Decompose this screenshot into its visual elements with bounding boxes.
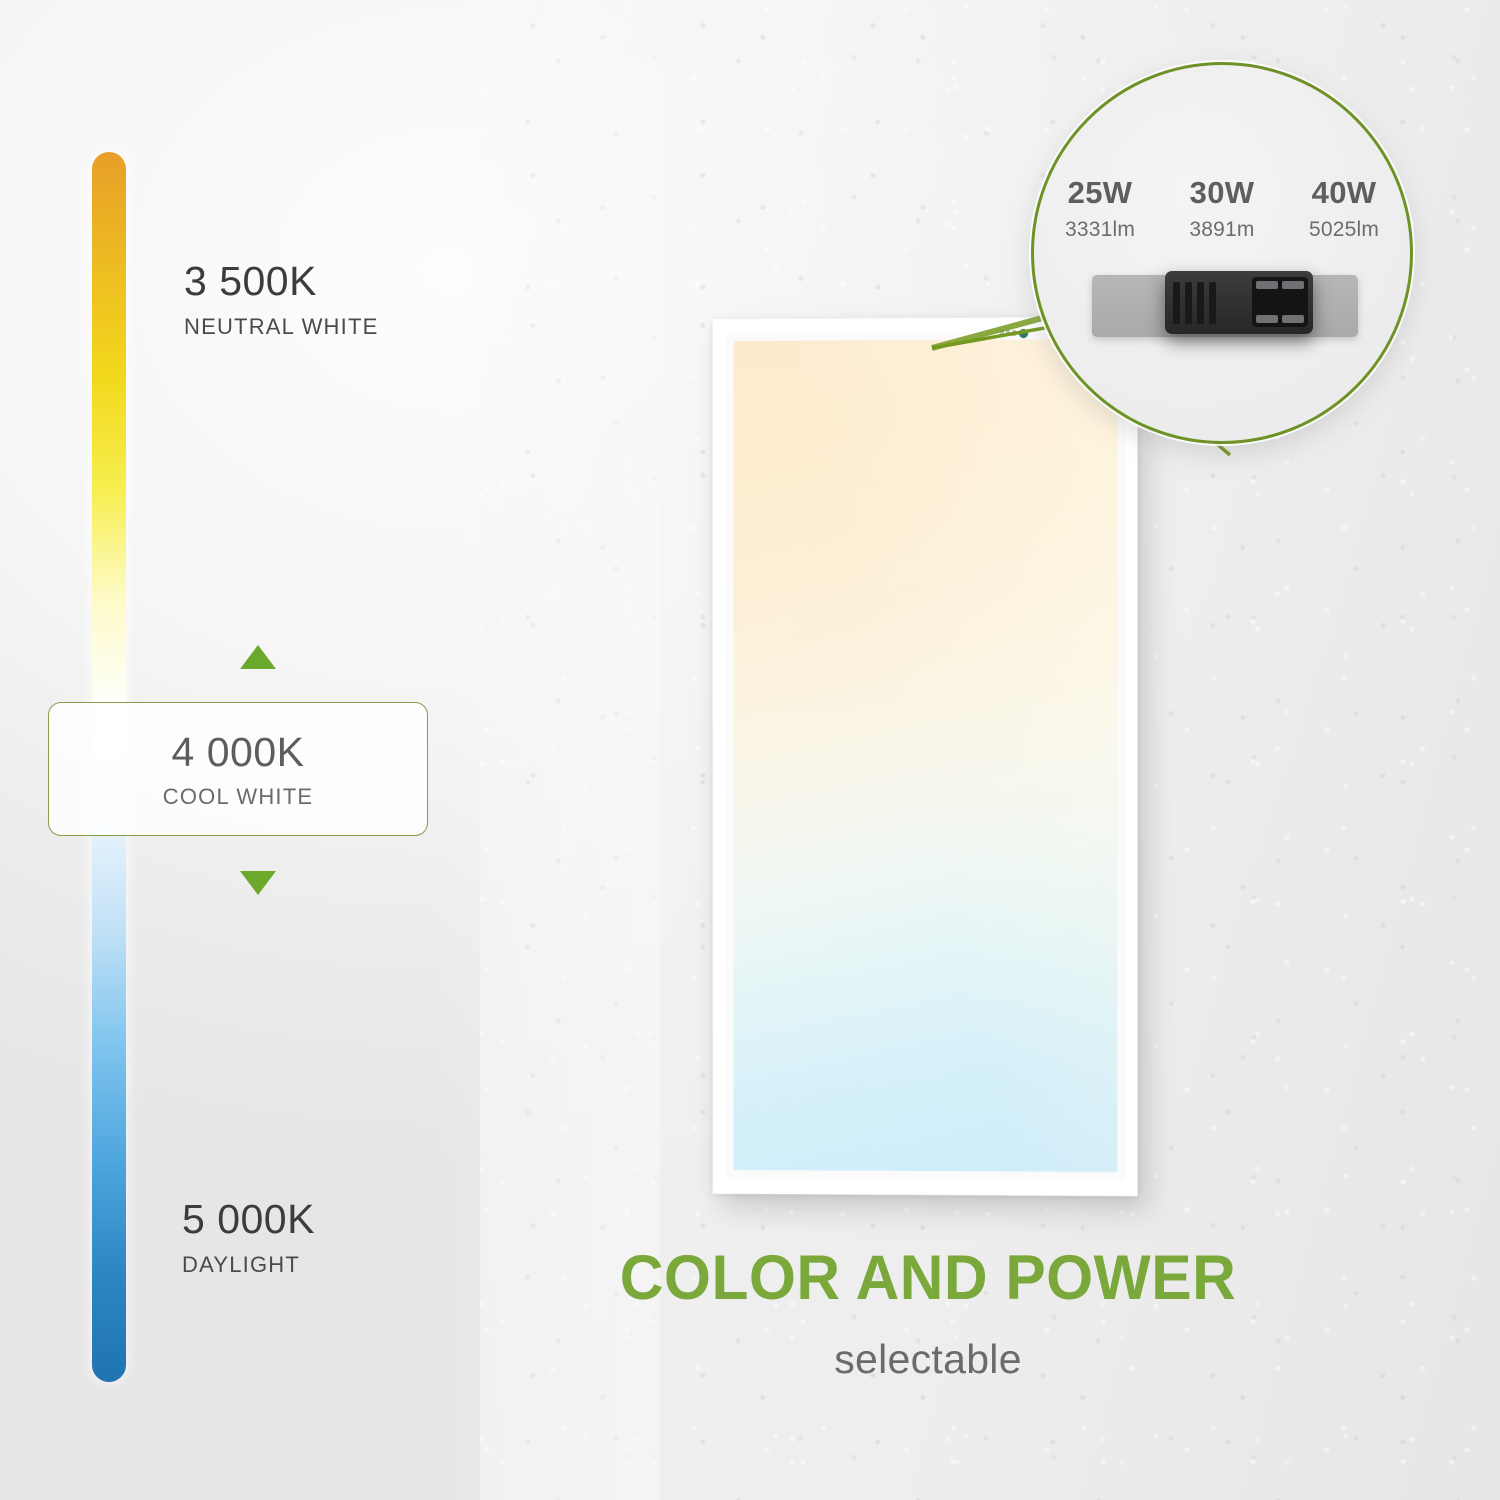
switch-connector-block: [1252, 277, 1308, 327]
cct-label-daylight: 5 000K DAYLIGHT: [182, 1196, 315, 1278]
lumen-value: 5025lm: [1298, 218, 1390, 242]
chevron-down-icon[interactable]: [240, 871, 276, 895]
cct-name-label-selected: COOL WHITE: [163, 784, 314, 810]
switch-rib: [1185, 282, 1192, 324]
connector-pin-row: [1256, 281, 1304, 289]
wattage-magnifier-callout: 25W 3331lm 30W 3891m 40W 5025lm: [1031, 62, 1413, 444]
infographic-stage: 3 500K NEUTRAL WHITE 4 000K COOL WHITE 5…: [0, 0, 1500, 1500]
switch-rib: [1173, 282, 1180, 324]
connector-pin: [1256, 315, 1278, 323]
wattage-value: 40W: [1298, 175, 1390, 211]
wattage-options-row: 25W 3331lm 30W 3891m 40W 5025lm: [1034, 175, 1410, 242]
connector-pin: [1282, 281, 1304, 289]
chevron-up-icon[interactable]: [240, 645, 276, 669]
wattage-option[interactable]: 25W 3331lm: [1054, 175, 1146, 242]
switch-rib: [1197, 282, 1204, 324]
page-subtitle: selectable: [588, 1336, 1268, 1383]
dip-switch-mounting-bar: [1092, 275, 1358, 337]
cct-kelvin-value: 3 500K: [184, 258, 378, 305]
wattage-option[interactable]: 30W 3891m: [1176, 175, 1268, 242]
page-title: COLOR AND POWER: [602, 1242, 1255, 1314]
wattage-value: 30W: [1176, 175, 1268, 211]
connector-pin-row: [1256, 315, 1304, 323]
connector-pin: [1256, 281, 1278, 289]
cct-kelvin-value-selected: 4 000K: [172, 729, 305, 776]
cct-name-label: DAYLIGHT: [182, 1252, 315, 1278]
lumen-value: 3891m: [1176, 218, 1268, 242]
cct-label-neutral-white: 3 500K NEUTRAL WHITE: [184, 258, 378, 340]
headline-block: COLOR AND POWER selectable: [588, 1242, 1268, 1383]
cct-name-label: NEUTRAL WHITE: [184, 314, 378, 340]
dip-switch-body[interactable]: [1165, 271, 1313, 334]
connector-pin: [1282, 315, 1304, 323]
switch-rib: [1209, 282, 1216, 324]
cct-kelvin-value: 5 000K: [182, 1196, 315, 1243]
wattage-value: 25W: [1054, 175, 1146, 211]
cct-selected-callout[interactable]: 4 000K COOL WHITE: [48, 702, 428, 836]
lumen-value: 3331lm: [1054, 218, 1146, 242]
dip-switch-ribs: [1173, 282, 1216, 324]
wattage-option[interactable]: 40W 5025lm: [1298, 175, 1390, 242]
